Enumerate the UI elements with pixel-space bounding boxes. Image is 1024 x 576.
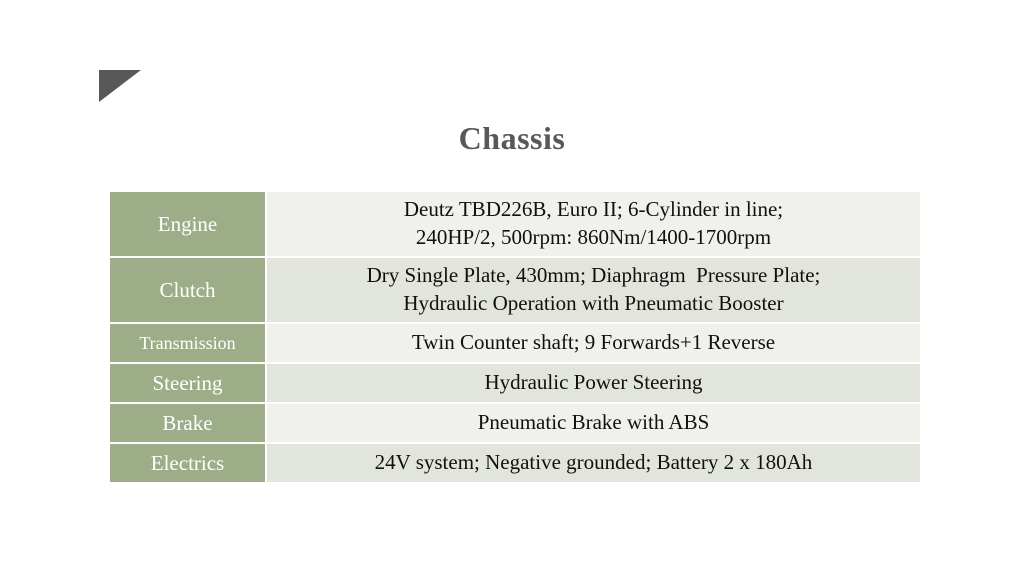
spec-value: Twin Counter shaft; 9 Forwards+1 Reverse xyxy=(267,324,920,364)
spec-label: Brake xyxy=(110,404,267,444)
page-title: Chassis xyxy=(0,120,1024,157)
spec-value-line: Twin Counter shaft; 9 Forwards+1 Reverse xyxy=(267,329,920,357)
chassis-spec-table: Engine Deutz TBD226B, Euro II; 6-Cylinde… xyxy=(110,192,920,484)
spec-label: Electrics xyxy=(110,444,267,484)
spec-label: Engine xyxy=(110,192,267,258)
corner-triangle-icon xyxy=(99,70,141,102)
spec-value-line: Pneumatic Brake with ABS xyxy=(267,409,920,437)
spec-value: 24V system; Negative grounded; Battery 2… xyxy=(267,444,920,484)
spec-value-line: 24V system; Negative grounded; Battery 2… xyxy=(267,449,920,477)
table-row: Engine Deutz TBD226B, Euro II; 6-Cylinde… xyxy=(110,192,920,258)
table-row: Brake Pneumatic Brake with ABS xyxy=(110,404,920,444)
spec-value-line: 240HP/2, 500rpm: 860Nm/1400-1700rpm xyxy=(267,224,920,252)
spec-value-line: Dry Single Plate, 430mm; Diaphragm Press… xyxy=(267,262,920,290)
spec-value-line: Deutz TBD226B, Euro II; 6-Cylinder in li… xyxy=(267,196,920,224)
spec-value-line: Hydraulic Power Steering xyxy=(267,369,920,397)
table-row: Electrics 24V system; Negative grounded;… xyxy=(110,444,920,484)
spec-value: Deutz TBD226B, Euro II; 6-Cylinder in li… xyxy=(267,192,920,258)
spec-value: Hydraulic Power Steering xyxy=(267,364,920,404)
spec-value: Dry Single Plate, 430mm; Diaphragm Press… xyxy=(267,258,920,324)
table-row: Steering Hydraulic Power Steering xyxy=(110,364,920,404)
spec-label: Transmission xyxy=(110,324,267,364)
spec-value-line: Hydraulic Operation with Pneumatic Boost… xyxy=(267,290,920,318)
spec-value: Pneumatic Brake with ABS xyxy=(267,404,920,444)
spec-label: Steering xyxy=(110,364,267,404)
table-row: Clutch Dry Single Plate, 430mm; Diaphrag… xyxy=(110,258,920,324)
table-row: Transmission Twin Counter shaft; 9 Forwa… xyxy=(110,324,920,364)
spec-label: Clutch xyxy=(110,258,267,324)
